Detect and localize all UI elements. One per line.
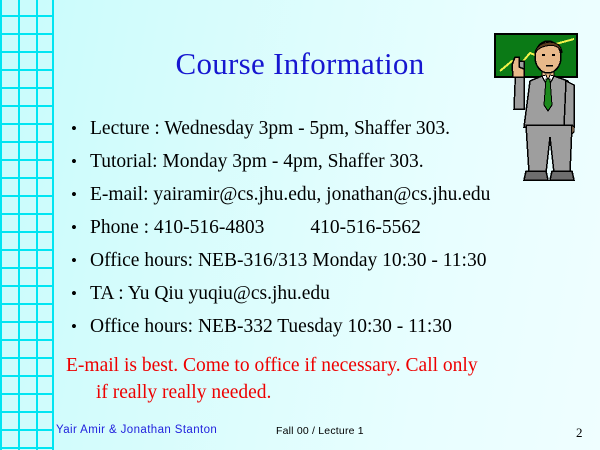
slide-canvas: Course Information [0,0,600,450]
list-item-label: Office hours: NEB-316/313 Monday 10:30 -… [90,244,486,277]
bullet-marker-icon: • [67,145,81,178]
bullet-marker-icon: • [67,310,81,343]
list-item: • Phone : 410-516-4803410-516-5562 [62,211,582,244]
bullet-list: • Lecture : Wednesday 3pm - 5pm, Shaffer… [62,112,582,343]
bullet-marker-icon: • [67,178,81,211]
emphasis-note-line-1: E-mail is best. Come to office if necess… [66,352,576,379]
phone-secondary: 410-516-5562 [310,217,421,238]
list-item-label: Office hours: NEB-332 Tuesday 10:30 - 11… [90,310,452,343]
emphasis-note: E-mail is best. Come to office if necess… [66,352,576,406]
list-item: • Tutorial: Monday 3pm - 4pm, Shaffer 30… [62,145,582,178]
list-item-label: TA : Yu Qiu yuqiu@cs.jhu.edu [90,277,330,310]
list-item: • TA : Yu Qiu yuqiu@cs.jhu.edu [62,277,582,310]
bullet-marker-icon: • [67,244,81,277]
list-item-label: E-mail: yairamir@cs.jhu.edu, jonathan@cs… [90,178,490,211]
list-item: • Lecture : Wednesday 3pm - 5pm, Shaffer… [62,112,582,145]
bullet-marker-icon: • [67,112,81,145]
bullet-marker-icon: • [67,211,81,244]
page-number: 2 [576,425,583,441]
list-item: • E-mail: yairamir@cs.jhu.edu, jonathan@… [62,178,582,211]
phone-primary: Phone : 410-516-4803 [90,217,264,238]
bullet-marker-icon: • [67,277,81,310]
footer-course-info: Fall 00 / Lecture 1 [276,425,364,437]
list-item: • Office hours: NEB-332 Tuesday 10:30 - … [62,310,582,343]
list-item: • Office hours: NEB-316/313 Monday 10:30… [62,244,582,277]
footer-authors: Yair Amir & Jonathan Stanton [56,424,217,436]
list-item-label: Tutorial: Monday 3pm - 4pm, Shaffer 303. [90,145,424,178]
emphasis-note-line-2: if really really needed. [66,379,576,406]
list-item-label: Lecture : Wednesday 3pm - 5pm, Shaffer 3… [90,112,450,145]
list-item-label: Phone : 410-516-4803410-516-5562 [90,211,421,244]
